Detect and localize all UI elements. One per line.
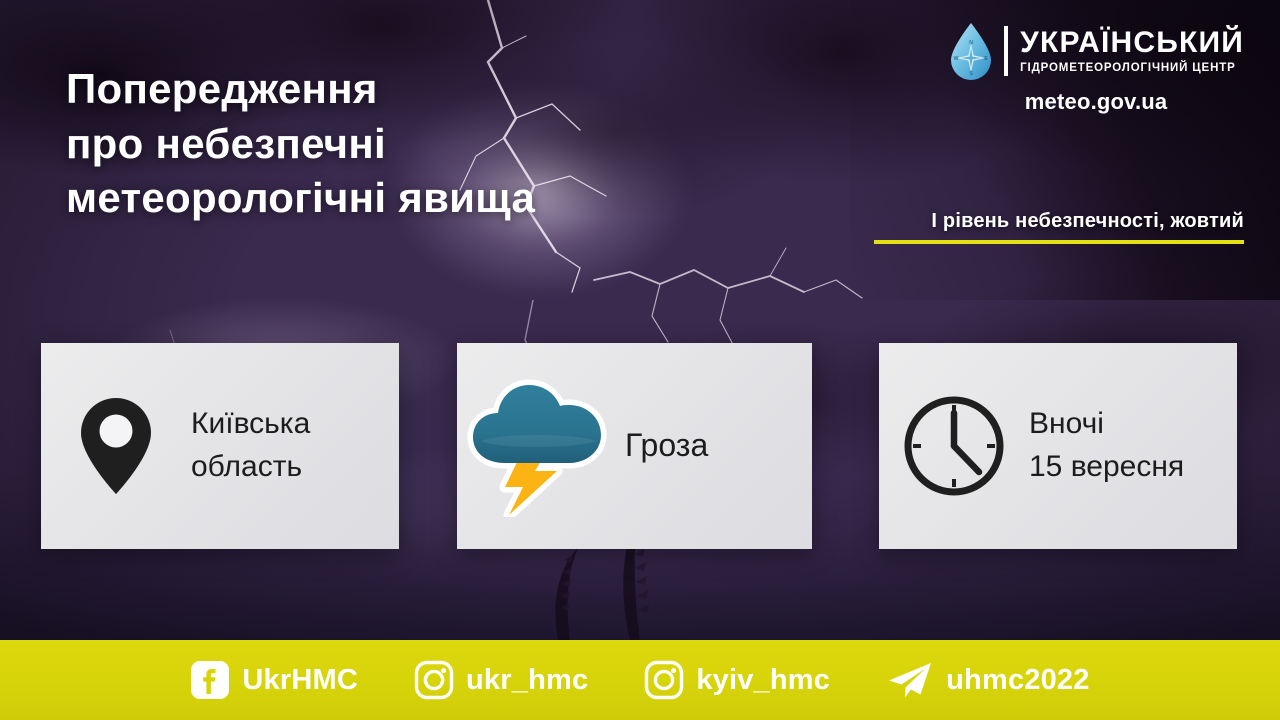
facebook-icon [190, 660, 230, 700]
social-link-instagram-ukr[interactable]: ukr_hmc [414, 660, 588, 700]
facebook-handle: UkrHMC [242, 664, 358, 697]
map-pin-icon [78, 396, 154, 496]
clock-icon-wrap [879, 393, 1029, 499]
logo-url[interactable]: meteo.gov.ua [1025, 89, 1168, 115]
svg-text:W: W [954, 56, 959, 62]
map-pin-icon-wrap [41, 396, 191, 496]
time-label: Вночі 15 вересня [1029, 403, 1184, 488]
phenomenon-label: Гроза [625, 423, 708, 468]
logo-divider [1004, 26, 1008, 76]
logo-subtitle: ГІДРОМЕТЕОРОЛОГІЧНИЙ ЦЕНТР [1020, 63, 1244, 75]
water-drop-compass-icon: N E S W [948, 22, 994, 80]
logo-title: УКРАЇНСЬКИЙ [1020, 28, 1244, 58]
social-footer: UkrHMC ukr_hmc kyiv_hmc [0, 640, 1280, 720]
telegram-icon [886, 660, 934, 700]
social-link-facebook[interactable]: UkrHMC [190, 660, 358, 700]
clock-icon [901, 393, 1007, 499]
danger-level-text: І рівень небезпечності, жовтий [874, 210, 1244, 233]
danger-level-banner: І рівень небезпечності, жовтий [874, 210, 1244, 244]
info-card-region: Київська область [41, 343, 399, 549]
instagram-handle-ukr: ukr_hmc [466, 664, 588, 697]
info-card-time: Вночі 15 вересня [879, 343, 1237, 549]
social-link-instagram-kyiv[interactable]: kyiv_hmc [644, 660, 830, 700]
danger-level-bar [874, 240, 1244, 244]
thunderstorm-cloud-icon [465, 375, 617, 517]
instagram-handle-kyiv: kyiv_hmc [696, 664, 830, 697]
page-title: Попередження про небезпечні метеорологіч… [66, 62, 535, 226]
social-link-telegram[interactable]: uhmc2022 [886, 660, 1089, 700]
region-label: Київська область [191, 403, 310, 488]
info-card-phenomenon: Гроза [457, 343, 812, 549]
brand-logo: N E S W УКРАЇНСЬКИЙ ГІДРОМЕТЕОРОЛОГІЧНИЙ… [948, 22, 1244, 115]
weather-warning-poster: Попередження про небезпечні метеорологіч… [0, 0, 1280, 720]
instagram-icon [644, 660, 684, 700]
svg-text:N: N [969, 40, 973, 46]
telegram-handle: uhmc2022 [946, 664, 1089, 697]
thunderstorm-icon-wrap [457, 375, 625, 517]
instagram-icon [414, 660, 454, 700]
